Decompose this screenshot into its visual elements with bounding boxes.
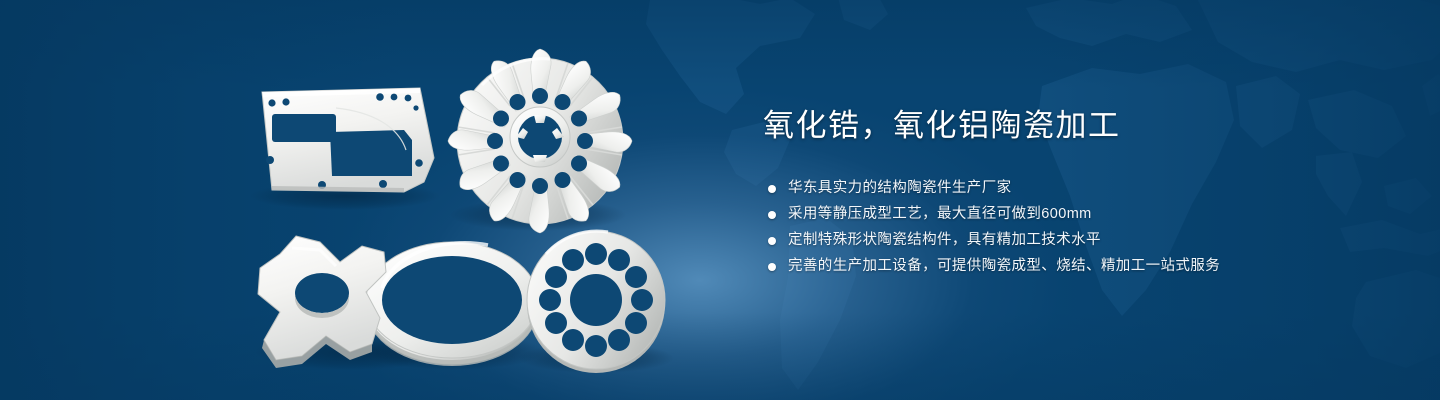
feature-list-item: 完善的生产加工设备，可提供陶瓷成型、烧结、精加工一站式服务 — [763, 254, 1383, 279]
feature-list: 华东具实力的结构陶瓷件生产厂家 采用等静压成型工艺，最大直径可做到600mm 定… — [763, 176, 1383, 279]
bullet-dot-icon — [768, 211, 776, 219]
hero-banner: 氧化锆，氧化铝陶瓷加工 华东具实力的结构陶瓷件生产厂家 采用等静压成型工艺，最大… — [0, 0, 1440, 400]
banner-copy: 氧化锆，氧化铝陶瓷加工 华东具实力的结构陶瓷件生产厂家 采用等静压成型工艺，最大… — [763, 106, 1383, 280]
bullet-dot-icon — [768, 237, 776, 245]
feature-list-item: 采用等静压成型工艺，最大直径可做到600mm — [763, 202, 1383, 227]
feature-text: 采用等静压成型工艺，最大直径可做到600mm — [788, 202, 1092, 227]
bullet-dot-icon — [768, 185, 776, 193]
ceramic-ring — [366, 242, 538, 366]
feature-text: 完善的生产加工设备，可提供陶瓷成型、烧结、精加工一站式服务 — [788, 254, 1220, 279]
ceramic-mounting-plate — [262, 88, 434, 192]
bullet-dot-icon — [768, 263, 776, 271]
banner-headline: 氧化锆，氧化铝陶瓷加工 — [763, 106, 1383, 146]
feature-list-item: 定制特殊形状陶瓷结构件，具有精加工技术水平 — [763, 228, 1383, 253]
ceramic-perforated-disc — [527, 231, 665, 373]
feature-text: 定制特殊形状陶瓷结构件，具有精加工技术水平 — [788, 228, 1101, 253]
feature-text: 华东具实力的结构陶瓷件生产厂家 — [788, 176, 1012, 201]
feature-list-item: 华东具实力的结构陶瓷件生产厂家 — [763, 176, 1383, 201]
